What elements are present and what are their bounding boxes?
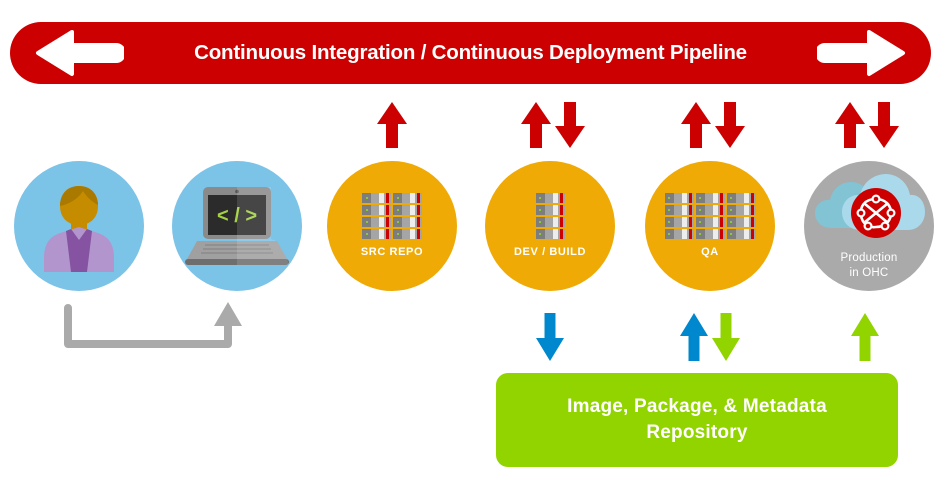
node-src-repo[interactable]: SRC REPO [327, 161, 457, 291]
arrow-up-src-repo [374, 100, 410, 150]
arrow-up-production-repo [849, 311, 881, 363]
arrow-down-qa-repo [710, 311, 742, 363]
node-dev-build[interactable]: DEV / BUILD [485, 161, 615, 291]
server-rack-icon [362, 193, 422, 239]
arrow-up-dev-build [518, 100, 554, 150]
arrow-left-icon [32, 28, 124, 78]
arrow-down-qa [712, 100, 748, 150]
cicd-pipeline-diagram: Continuous Integration / Continuous Depl… [0, 0, 941, 500]
node-label-src-repo: SRC REPO [361, 246, 423, 260]
arrow-down-dev-build-repo [534, 311, 566, 363]
laptop-code-icon: < / > [183, 183, 291, 269]
node-label-qa: QA [701, 246, 719, 260]
node-label-production-line2: in OHC [850, 267, 889, 279]
node-workstation[interactable]: < / > [172, 161, 302, 291]
arrow-up-production [832, 100, 868, 150]
arrow-down-production [866, 100, 902, 150]
arrow-up-qa-repo [678, 311, 710, 363]
node-label-production-line1: Production [841, 252, 898, 264]
arrow-right-icon [817, 28, 909, 78]
repository-label-line1: Image, Package, & Metadata [567, 396, 827, 417]
person-icon [40, 180, 118, 272]
node-production[interactable]: Production in OHC [804, 161, 934, 291]
server-rack-icon [665, 193, 756, 239]
node-developer[interactable] [14, 161, 144, 291]
arrow-up-qa [678, 100, 714, 150]
node-qa[interactable]: QA [645, 161, 775, 291]
loop-arrow-icon [60, 300, 250, 356]
node-label-production: Production in OHC [841, 251, 898, 280]
arrow-down-dev-build [552, 100, 588, 150]
node-label-dev-build: DEV / BUILD [514, 246, 586, 260]
cloud-openshift-icon [813, 172, 925, 244]
pipeline-title: Continuous Integration / Continuous Depl… [194, 41, 747, 65]
repository-label: Image, Package, & Metadata Repository [567, 394, 827, 445]
repository-label-line2: Repository [646, 422, 747, 443]
server-rack-icon [536, 193, 565, 239]
repository-box[interactable]: Image, Package, & Metadata Repository [496, 373, 898, 467]
pipeline-banner: Continuous Integration / Continuous Depl… [10, 22, 931, 84]
